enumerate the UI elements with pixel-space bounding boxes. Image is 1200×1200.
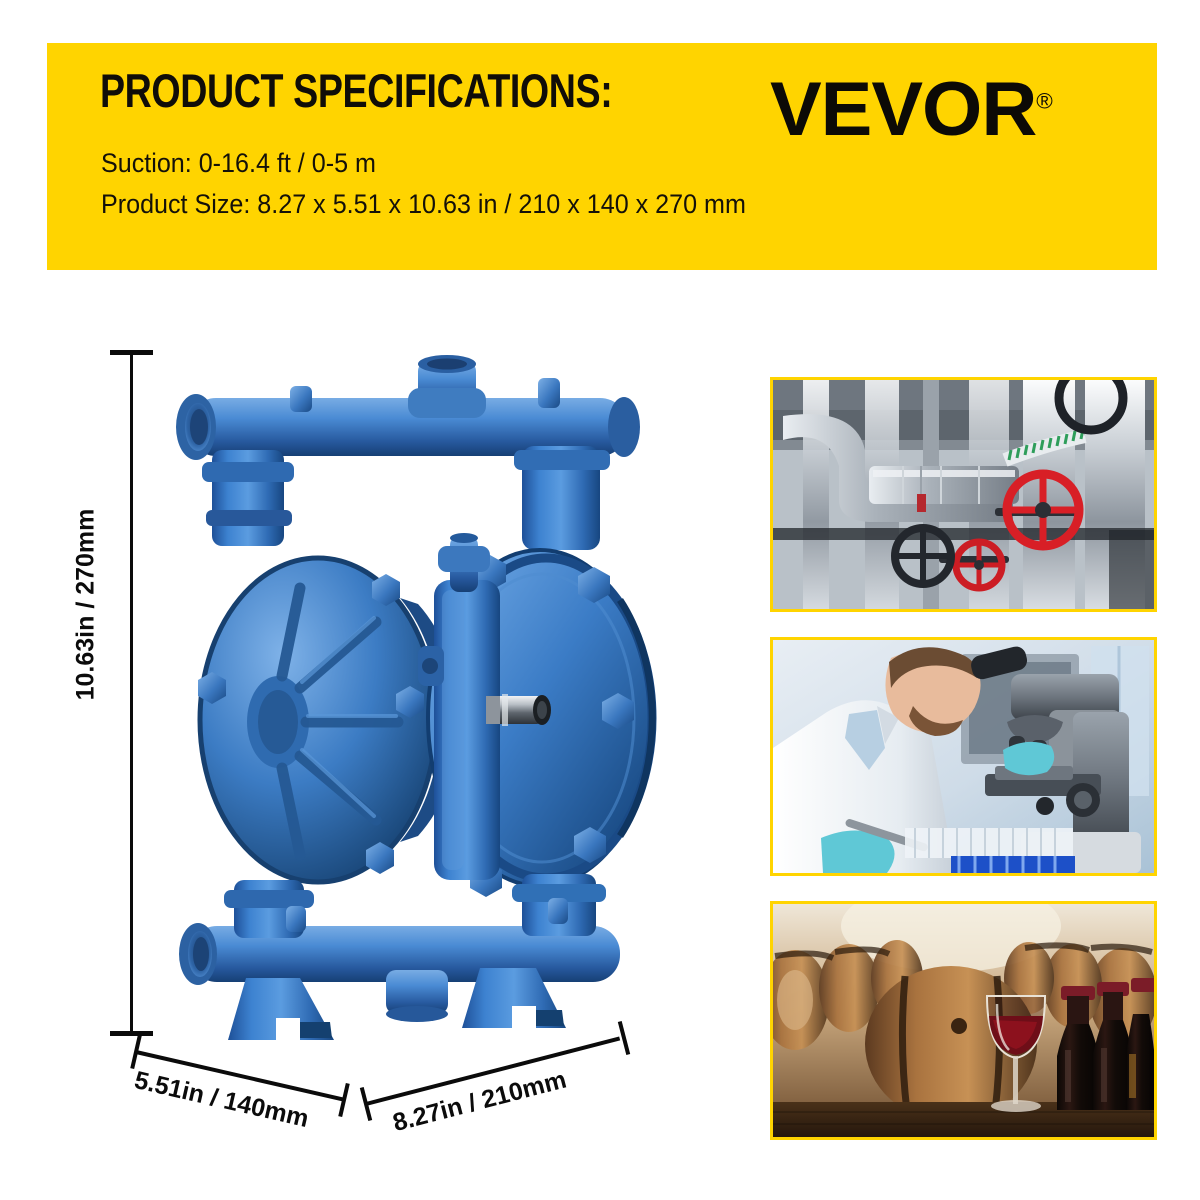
vevor-logo-text: VEVOR <box>770 67 1036 152</box>
lab-microscope-artwork <box>773 640 1154 873</box>
product-image <box>150 350 670 1050</box>
height-tick-top <box>110 350 153 355</box>
vevor-logo: VEVOR® <box>770 72 1053 148</box>
height-dimension-label: 10.63in / 270mm <box>72 495 101 715</box>
height-tick-bottom <box>110 1031 153 1036</box>
height-dimension-line <box>130 350 133 1036</box>
pump-illustration <box>150 350 670 1050</box>
industrial-piping-artwork <box>773 380 1154 609</box>
spec-line-product-size: Product Size: 8.27 x 5.51 x 10.63 in / 2… <box>101 189 746 220</box>
black-valve-wheel <box>895 528 951 584</box>
page-title: PRODUCT SPECIFICATIONS: <box>100 67 612 114</box>
industrial-piping-photo <box>770 377 1157 612</box>
air-inlet-fitting <box>486 694 551 726</box>
spec-line-suction: Suction: 0-16.4 ft / 0-5 m <box>101 148 376 179</box>
red-valve-wheel-large <box>1007 474 1079 546</box>
left-chamber <box>198 558 459 882</box>
laboratory-microscope-photo <box>770 637 1157 876</box>
product-spec-page: PRODUCT SPECIFICATIONS: Suction: 0-16.4 … <box>0 0 1200 1200</box>
depth-dimension-label: 5.51in / 140mm <box>132 1066 312 1134</box>
registered-trademark-icon: ® <box>1036 89 1053 114</box>
left-riser <box>202 450 294 546</box>
wine-cellar-photo <box>770 901 1157 1140</box>
right-riser <box>514 446 610 550</box>
top-manifold <box>176 355 640 460</box>
red-valve-wheel-small <box>956 542 1002 588</box>
wine-cellar-artwork <box>773 904 1154 1137</box>
